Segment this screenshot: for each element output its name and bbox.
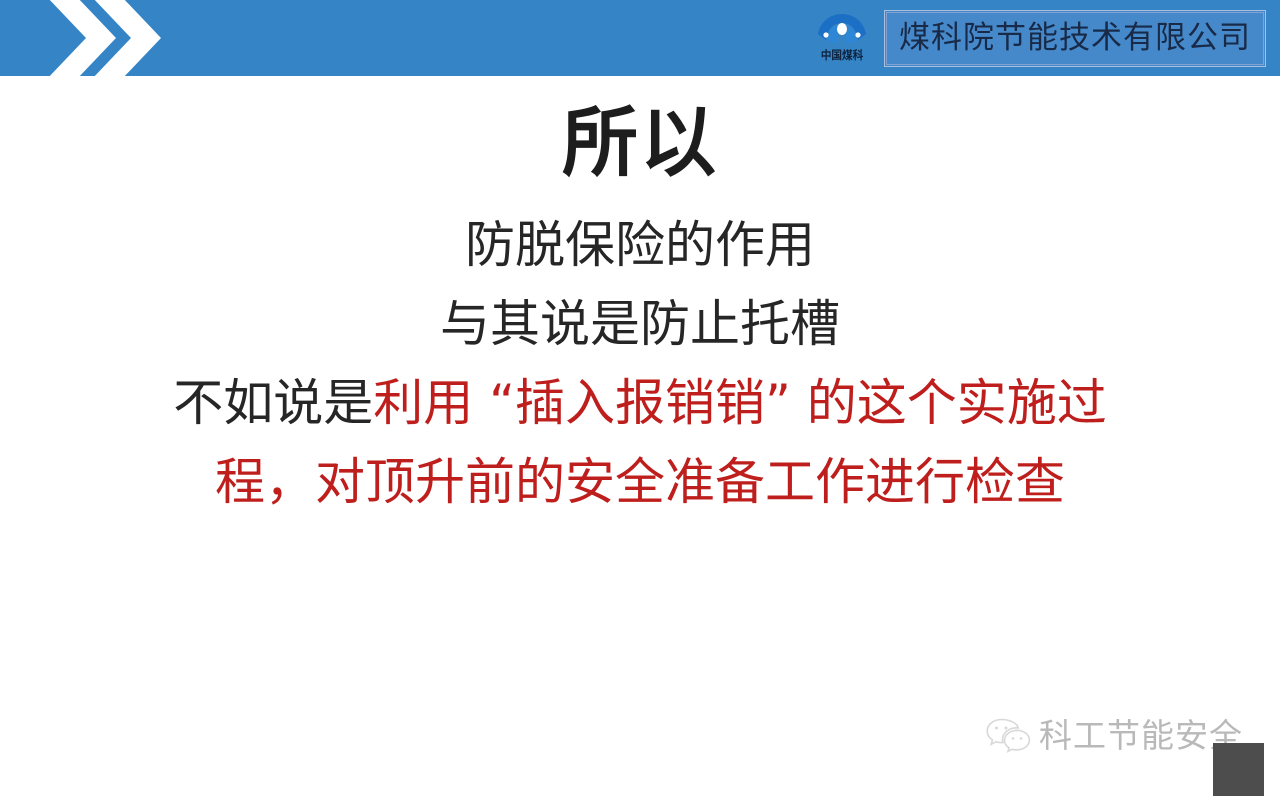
slide-body-text: 防脱保险的作用 与其说是防止托槽 不如说是利用 “插入报销销” 的这个实施过 程… — [0, 206, 1280, 522]
china-coal-logo: 中国煤科 — [811, 8, 873, 68]
wechat-icon — [985, 716, 1031, 756]
body-line-4-segment-1: 程，对顶升前的安全准备工作进行检查 — [215, 453, 1065, 511]
header-bar: 中国煤科 煤科院节能技术有限公司 — [0, 0, 1280, 76]
slide-body: 所以 防脱保险的作用 与其说是防止托槽 不如说是利用 “插入报销销” 的这个实施… — [0, 76, 1280, 720]
body-line-2-segment-1: 与其说是防止托槽 — [440, 295, 840, 353]
brand-block: 中国煤科 煤科院节能技术有限公司 — [811, 0, 1266, 76]
body-line-4: 程，对顶升前的安全准备工作进行检查 — [0, 443, 1280, 522]
company-name-box: 煤科院节能技术有限公司 — [884, 10, 1266, 67]
body-line-3-segment-2: 利用 “插入报销销” 的这个实施过 — [373, 374, 1107, 432]
corner-square-marker — [1213, 743, 1264, 796]
double-chevron-right-icon — [42, 0, 202, 76]
body-line-1-segment-1: 防脱保险的作用 — [465, 216, 815, 274]
chevron-right-icon-2 — [87, 0, 171, 76]
body-line-3: 不如说是利用 “插入报销销” 的这个实施过 — [0, 364, 1280, 443]
watermark: 科工节能安全 — [985, 716, 1243, 756]
slide-title: 所以 — [0, 100, 1280, 186]
body-line-1: 防脱保险的作用 — [0, 206, 1280, 285]
body-line-2: 与其说是防止托槽 — [0, 285, 1280, 364]
china-coal-emblem-icon — [816, 13, 868, 49]
logo-caption: 中国煤科 — [821, 50, 863, 63]
company-name-text: 煤科院节能技术有限公司 — [899, 20, 1251, 56]
body-line-3-segment-1: 不如说是 — [173, 374, 373, 432]
